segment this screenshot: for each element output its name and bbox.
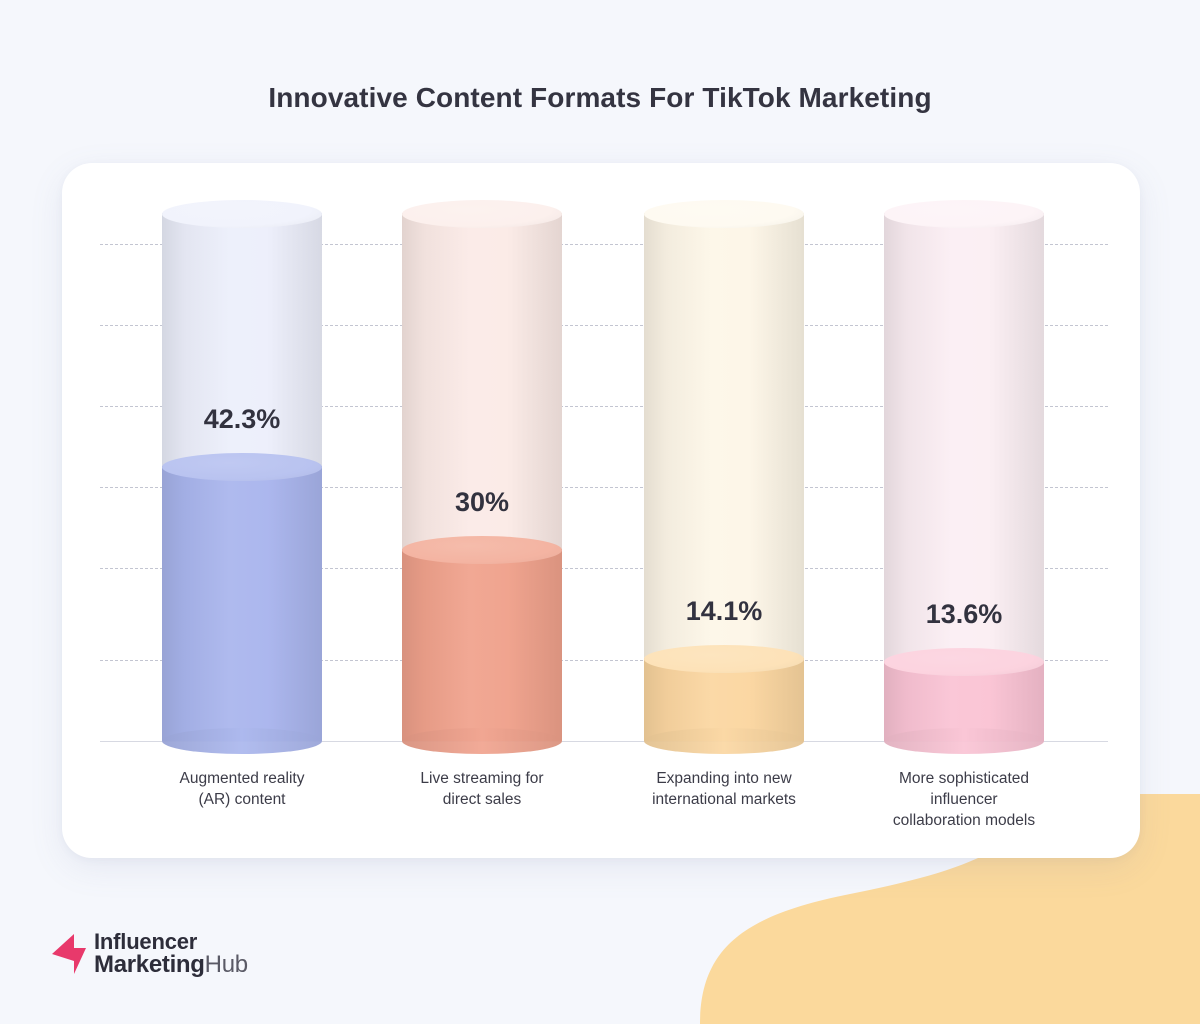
logo-line-marketinghub: MarketingHub [94,953,248,978]
bar-value-label: 42.3% [142,404,342,435]
cylinder-cap [884,200,1044,228]
logo-hub-text: Hub [205,951,248,978]
bar-category-label: Augmented reality(AR) content [122,768,362,810]
cylinder-foot [162,728,322,754]
logo-line-influencer: Influencer [94,931,248,954]
cylinder-cap [402,200,562,228]
cylinder-body [402,549,562,741]
bar-value-label: 30% [382,487,582,518]
cylinder-foot [644,728,804,754]
bar-value-label: 13.6% [864,599,1064,630]
arrow-left-icon [50,932,92,976]
cylinder-cap [644,200,804,228]
category-label-line: Live streaming for [362,768,602,789]
category-label-line: collaboration models [844,810,1084,831]
bar-value-label: 14.1% [624,596,824,627]
cylinder-cap [162,200,322,228]
category-label-line: (AR) content [122,789,362,810]
bar-cylinder [162,453,322,741]
cylinder-body [162,466,322,741]
cylinder-cap [644,645,804,673]
cylinder-foot [402,728,562,754]
page-title: Innovative Content Formats For TikTok Ma… [0,82,1200,114]
chart-card: 42.3%Augmented reality(AR) content30%Liv… [62,163,1140,858]
category-label-line: More sophisticated [844,768,1084,789]
category-label-line: direct sales [362,789,602,810]
brand-logo: Influencer MarketingHub [50,922,300,986]
cylinder-foot [884,728,1044,754]
cylinder-cap [162,453,322,481]
bar-category-label: Expanding into newinternational markets [604,768,844,810]
category-label-line: influencer [844,789,1084,810]
bar-cylinder [884,648,1044,741]
bar-cylinder [644,645,804,741]
category-label-line: international markets [604,789,844,810]
logo-marketing-text: Marketing [94,951,205,978]
logo-wordmark: Influencer MarketingHub [94,930,248,979]
plot-area: 42.3%Augmented reality(AR) content30%Liv… [62,163,1140,858]
category-label-line: Augmented reality [122,768,362,789]
bar-category-label: More sophisticatedinfluencercollaboratio… [844,768,1084,831]
bar-category-label: Live streaming fordirect sales [362,768,602,810]
bar-cylinder [402,536,562,741]
category-label-line: Expanding into new [604,768,844,789]
